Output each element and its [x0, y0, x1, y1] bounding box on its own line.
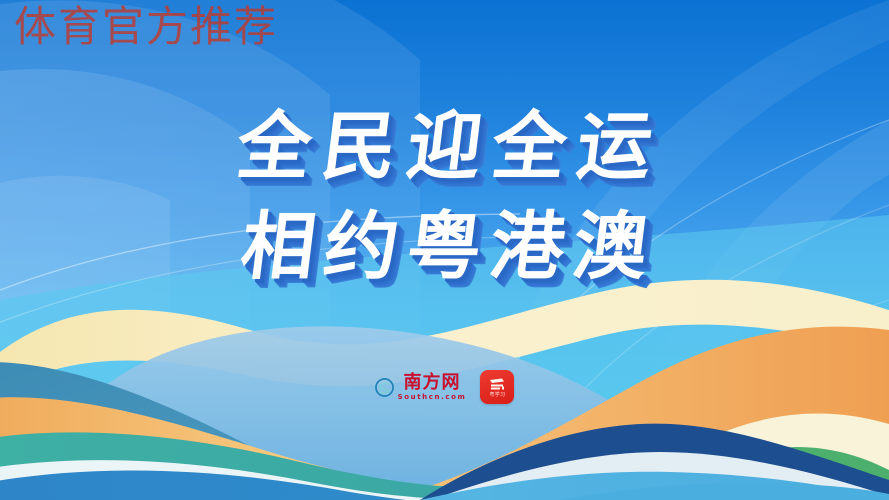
logo-row: 南方网 Southcn.com 粤学习 — [0, 370, 889, 404]
yuexuexi-app-icon[interactable]: 粤学习 — [480, 370, 514, 404]
southcn-name-cn: 南方网 — [404, 374, 461, 392]
southcn-name-en: Southcn.com — [398, 394, 467, 401]
poster-canvas: 体育官方推荐 全民迎全运 相约粤港澳 南方网 Southcn.com 粤学习 — [0, 0, 889, 500]
s-swoosh-icon — [375, 378, 394, 397]
southcn-text: 南方网 Southcn.com — [398, 374, 467, 401]
wave-landscape — [0, 0, 889, 500]
watermark-text: 体育官方推荐 — [14, 2, 278, 52]
book-icon — [487, 377, 507, 392]
southcn-logo[interactable]: 南方网 Southcn.com — [375, 374, 467, 401]
yuexuexi-label: 粤学习 — [489, 393, 505, 398]
